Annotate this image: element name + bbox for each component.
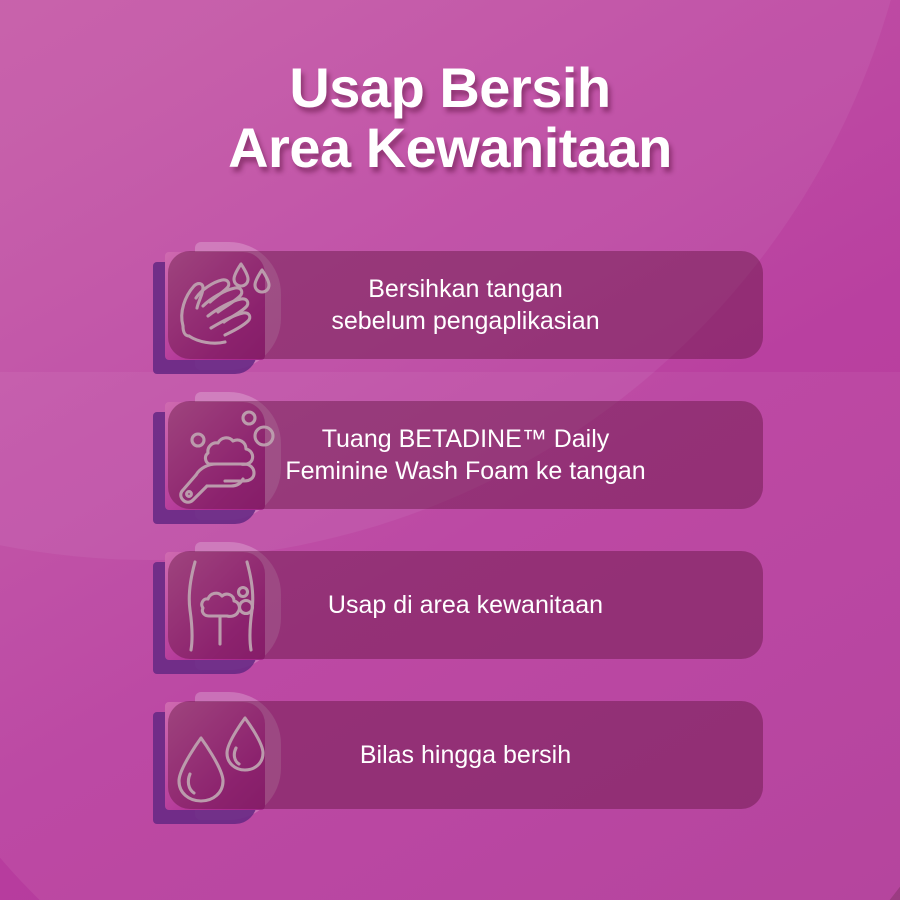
- steps-list: Bersihkan tangan sebelum pengaplikasian: [0, 240, 900, 840]
- list-item: Bilas hingga bersih: [0, 690, 900, 840]
- step-card: Usap di area kewanitaan: [168, 551, 763, 659]
- step-card: Bersihkan tangan sebelum pengaplikasian: [168, 251, 763, 359]
- step-label: Tuang BETADINE™ Daily Feminine Wash Foam…: [259, 423, 671, 487]
- step-label: Bersihkan tangan sebelum pengaplikasian: [305, 273, 625, 337]
- step-label: Usap di area kewanitaan: [302, 589, 629, 621]
- title-line-1: Usap Bersih: [0, 58, 900, 118]
- page-title: Usap Bersih Area Kewanitaan: [0, 58, 900, 178]
- step-label: Bilas hingga bersih: [334, 739, 597, 771]
- list-item: Usap di area kewanitaan: [0, 540, 900, 690]
- list-item: Bersihkan tangan sebelum pengaplikasian: [0, 240, 900, 390]
- title-line-2: Area Kewanitaan: [0, 118, 900, 178]
- list-item: Tuang BETADINE™ Daily Feminine Wash Foam…: [0, 390, 900, 540]
- poster-canvas: Usap Bersih Area Kewanitaan: [0, 0, 900, 900]
- step-card: Bilas hingga bersih: [168, 701, 763, 809]
- step-card: Tuang BETADINE™ Daily Feminine Wash Foam…: [168, 401, 763, 509]
